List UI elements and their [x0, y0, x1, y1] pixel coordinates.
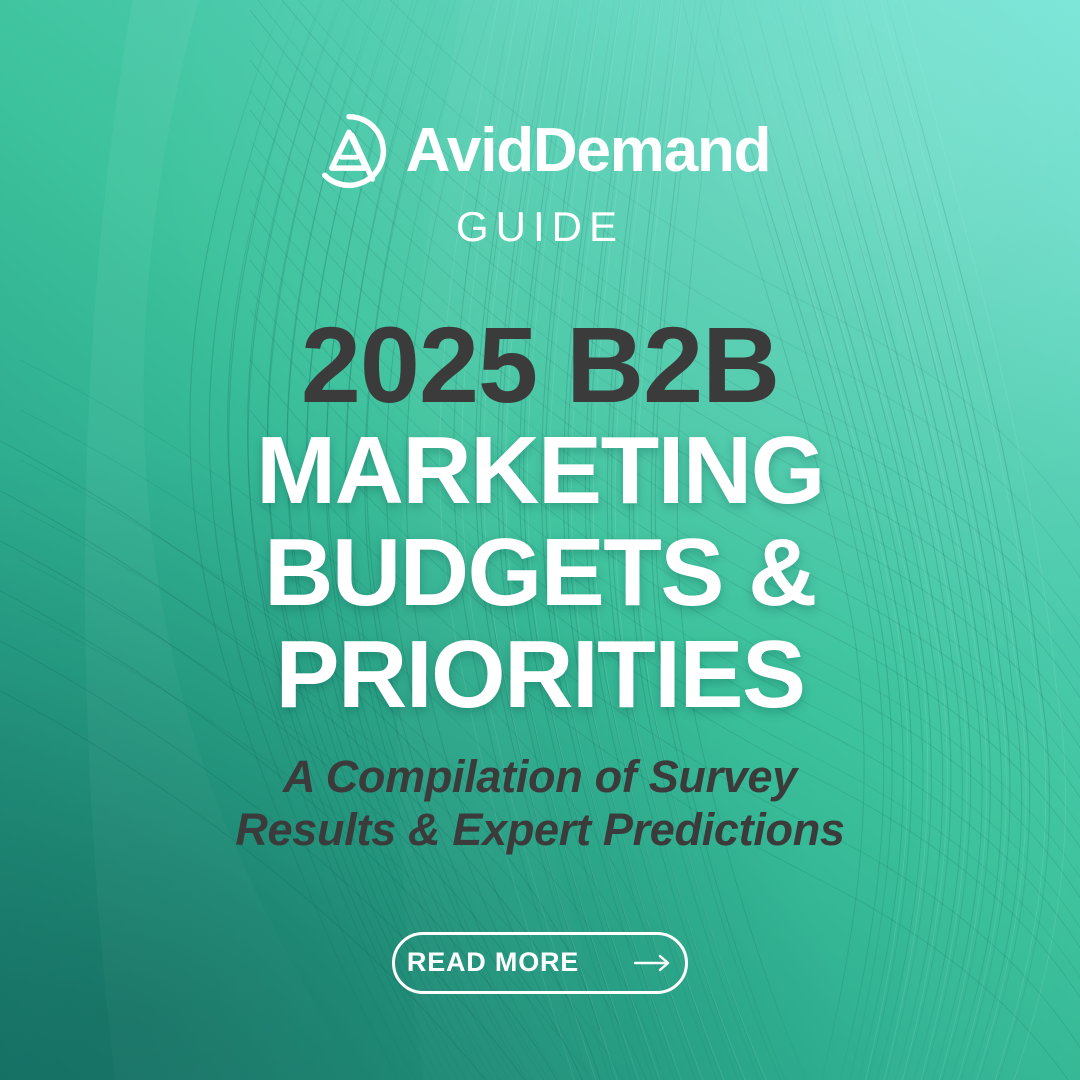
brand-wordmark: AvidDemand	[406, 120, 771, 182]
poster-content: AvidDemand GUIDE 2025 B2B MARKETING BUDG…	[0, 0, 1080, 1080]
brand-lockup: AvidDemand	[310, 112, 771, 190]
headline-line-4: PRIORITIES	[256, 624, 824, 726]
content-type-kicker: GUIDE	[456, 206, 624, 248]
headline-block: 2025 B2B MARKETING BUDGETS & PRIORITIES	[256, 310, 824, 725]
poster-canvas: AvidDemand GUIDE 2025 B2B MARKETING BUDG…	[0, 0, 1080, 1080]
avid-demand-circle-a-mark	[310, 112, 388, 190]
cta-container: READ MORE	[0, 932, 1080, 994]
headline-line-1: 2025 B2B	[256, 310, 824, 420]
read-more-label: READ MORE	[407, 949, 579, 976]
headline-line-3: BUDGETS &	[256, 522, 824, 624]
read-more-button[interactable]: READ MORE	[392, 932, 688, 994]
headline-line-2: MARKETING	[256, 420, 824, 522]
subtitle-block: A Compilation of Survey Results & Expert…	[235, 751, 844, 855]
arrow-right-icon	[633, 953, 673, 973]
subtitle-line-1: A Compilation of Survey	[235, 751, 844, 803]
subtitle-line-2: Results & Expert Predictions	[235, 804, 844, 856]
